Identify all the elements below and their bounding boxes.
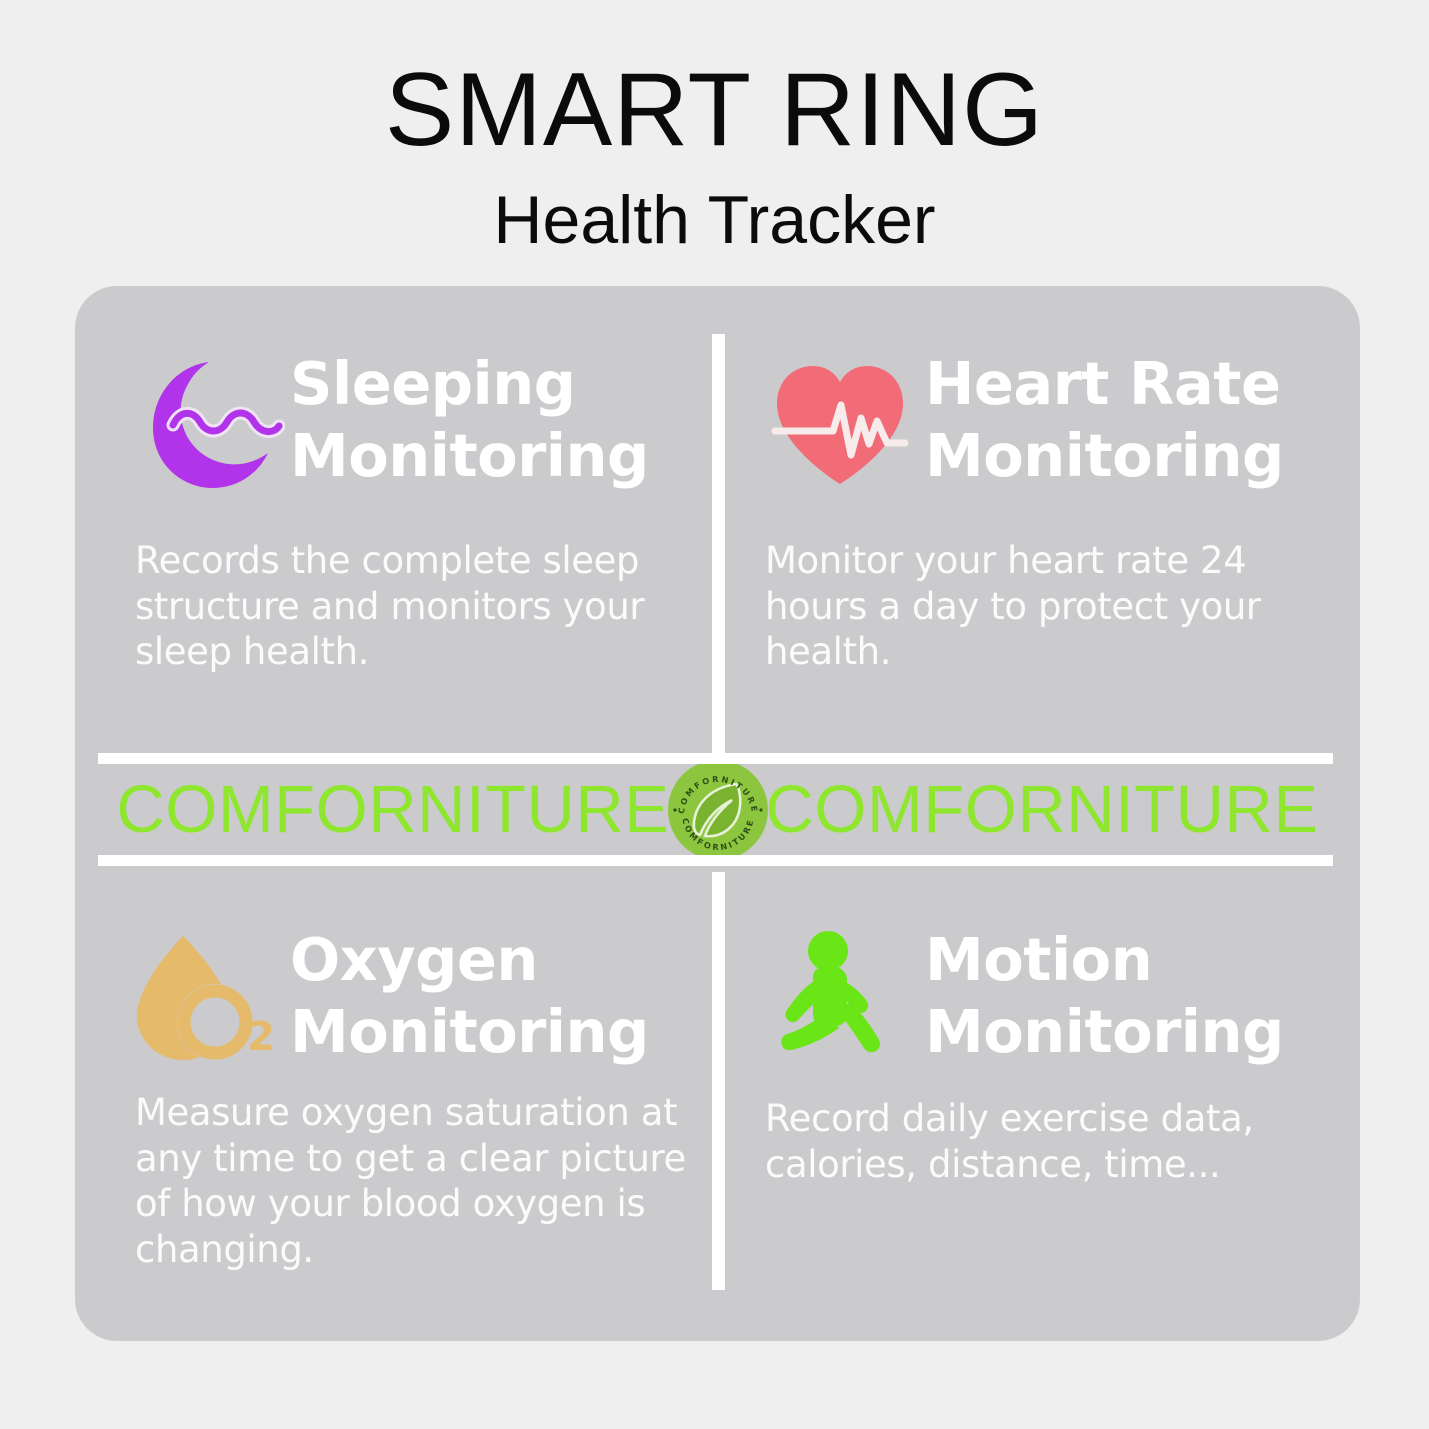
oxygen-droplet-icon: 2 xyxy=(135,924,285,1074)
comforniture-logo: COMFORNITURE COMFORNITURE xyxy=(666,764,770,855)
feature-description: Measure oxygen saturation at any time to… xyxy=(135,1090,700,1272)
running-person-icon xyxy=(765,924,915,1074)
heart-pulse-icon xyxy=(765,348,915,498)
vertical-divider-top xyxy=(712,334,725,754)
vertical-divider-bottom xyxy=(712,872,725,1290)
feature-description: Records the complete sleep structure and… xyxy=(135,538,700,675)
page-subtitle: Health Tracker xyxy=(0,186,1429,254)
feature-description: Monitor your heart rate 24 hours a day t… xyxy=(765,538,1330,675)
feature-motion-monitoring: Motion Monitoring Record daily exercise … xyxy=(765,924,1330,1187)
watermark-text-left: COMFORNITURE xyxy=(116,776,669,843)
feature-sleeping-monitoring: Sleeping Monitoring Records the complete… xyxy=(135,348,700,675)
horizontal-divider-bottom xyxy=(98,855,1333,866)
feature-description: Record daily exercise data, calories, di… xyxy=(765,1096,1330,1187)
feature-header: Heart Rate Monitoring xyxy=(765,348,1330,498)
page-title: SMART RING xyxy=(0,58,1429,162)
svg-text:2: 2 xyxy=(247,1014,275,1060)
feature-heart-rate-monitoring: Heart Rate Monitoring Monitor your heart… xyxy=(765,348,1330,675)
feature-header: Motion Monitoring xyxy=(765,924,1330,1074)
feature-header: Sleeping Monitoring xyxy=(135,348,700,498)
crescent-moon-icon xyxy=(135,348,285,498)
horizontal-divider-top xyxy=(98,753,1333,764)
feature-header: 2 Oxygen Monitoring xyxy=(135,924,700,1074)
page-header: SMART RING Health Tracker xyxy=(0,0,1429,254)
watermark-band: COMFORNITURE COMFORNITURE COMFORNITURE xyxy=(75,764,1360,855)
watermark-text-right: COMFORNITURE xyxy=(766,776,1319,843)
features-card: Sleeping Monitoring Records the complete… xyxy=(75,286,1360,1341)
feature-oxygen-monitoring: 2 Oxygen Monitoring Measure oxygen satur… xyxy=(135,924,700,1272)
